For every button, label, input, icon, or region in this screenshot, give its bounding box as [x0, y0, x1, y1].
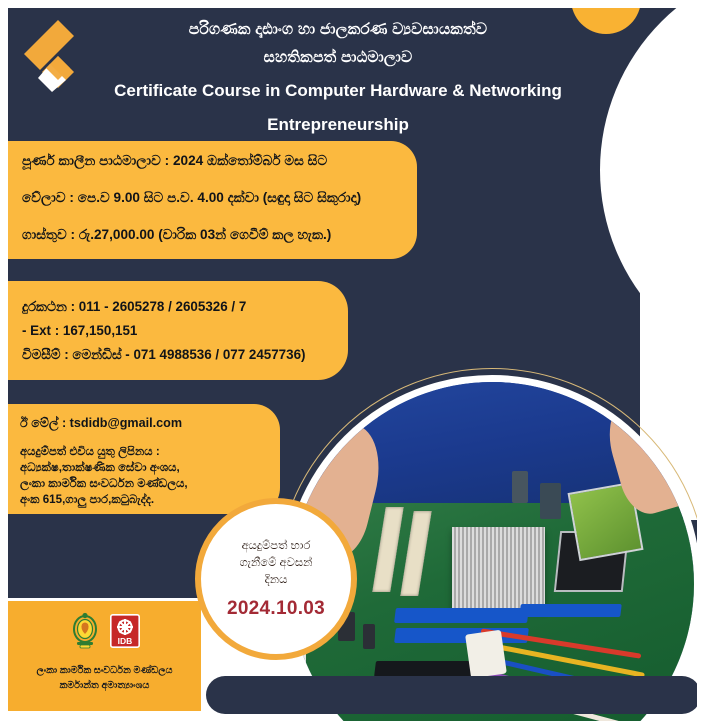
deadline-line-3: දිනය	[265, 572, 288, 589]
footer-org-line-1: ලංකා කාර්මික සංවර්ධන මණ්ඩලය	[8, 663, 201, 678]
email-line[interactable]: ඊ මේල් : tsdidb@gmail.com	[20, 414, 268, 432]
contact-row-ext: - Ext : 167,150,151	[22, 319, 334, 343]
deadline-date: 2024.10.03	[227, 598, 325, 620]
heading-sinhala-line-2: සහතිකපත් පාඨමාලාව	[78, 44, 598, 72]
footer-logo-row: IDB	[8, 601, 201, 657]
frame-right	[697, 0, 705, 721]
deadline-line-1: අයදුම්පත් භාර	[242, 538, 311, 555]
course-info-row-fee: ගාස්තුව : රු.27,000.00 (වාරික 03න් ගෙවීම…	[22, 225, 403, 244]
poster-root: පරිගණක දෘඪාංග හා ජාලකරණ ව්‍යවසායකත්ව සහත…	[0, 0, 705, 721]
sri-lanka-government-crest-icon	[70, 612, 100, 655]
contact-row-inquiry[interactable]: විමසීම් : මෙන්ඩිස් - 071 4988536 / 077 2…	[22, 343, 334, 367]
contact-row-phone[interactable]: දුරකථන : 011 - 2605278 / 2605326 / 7	[22, 295, 334, 319]
header-text-block: පරිගණක දෘඪාංග හා ජාලකරණ ව්‍යවසායකත්ව සහත…	[78, 16, 598, 140]
frame-left	[0, 0, 8, 721]
photo-component	[540, 483, 560, 519]
address-line-4: අංක 615,ගාලු පාර,කටුබැද්ද.	[20, 492, 268, 508]
frame-top	[0, 0, 705, 8]
heading-english-line-2: Entrepreneurship	[78, 110, 598, 140]
idb-gear-logo-icon: IDB	[110, 614, 140, 653]
heading-sinhala-line-1: පරිගණක දෘඪාංග හා ජාලකරණ ව්‍යවසායකත්ව	[78, 16, 598, 44]
deadline-line-2: ගැනීමේ අවසන්	[239, 555, 312, 572]
photo-component	[512, 471, 528, 503]
course-info-card: පූර්ණ කාලීන පාඨමාලාව : 2024 ඔක්තෝම්බර් ම…	[8, 141, 417, 259]
photo-component	[363, 624, 375, 648]
bottom-navy-bar	[206, 676, 701, 714]
footer-organisation-panel: IDB ලංකා කාර්මික සංවර්ධන මණ්ඩලය කර්මාන්ත…	[8, 601, 201, 711]
course-info-row-time: වේලාව : පෙ.ව 9.00 සිට ප.ව. 4.00 දක්වා (ස…	[22, 188, 403, 207]
application-deadline-badge: අයදුම්පත් භාර ගැනීමේ අවසන් දිනය 2024.10.…	[195, 498, 357, 660]
photo-heatsink	[452, 527, 545, 608]
photo-connector-block	[465, 630, 507, 679]
flutter-style-chevron-logo	[14, 18, 76, 100]
contact-card: දුරකථන : 011 - 2605278 / 2605326 / 7 - E…	[8, 281, 348, 380]
idb-wordmark: IDB	[117, 636, 132, 646]
photo-pci-slot	[394, 608, 529, 623]
email-address-card: ඊ මේල් : tsdidb@gmail.com අයදුම්පත් එවිය…	[8, 404, 280, 514]
address-line-1: අයදුම්පත් එවිය යුතු ලිපිනය :	[20, 444, 268, 460]
photo-pci-slot	[519, 604, 622, 617]
footer-org-line-2: කර්මාන්ත අමාත්‍යාංශය	[8, 678, 201, 693]
address-line-2: අධ්‍යක්ෂ,තාක්ෂණික සේවා අංශය,	[20, 460, 268, 476]
heading-english-line-1: Certificate Course in Computer Hardware …	[78, 76, 598, 106]
address-line-3: ලංකා කාර්මික සංවර්ධන මණ්ඩලය,	[20, 476, 268, 492]
course-info-row-duration: පූර්ණ කාලීන පාඨමාලාව : 2024 ඔක්තෝම්බර් ම…	[22, 151, 403, 170]
